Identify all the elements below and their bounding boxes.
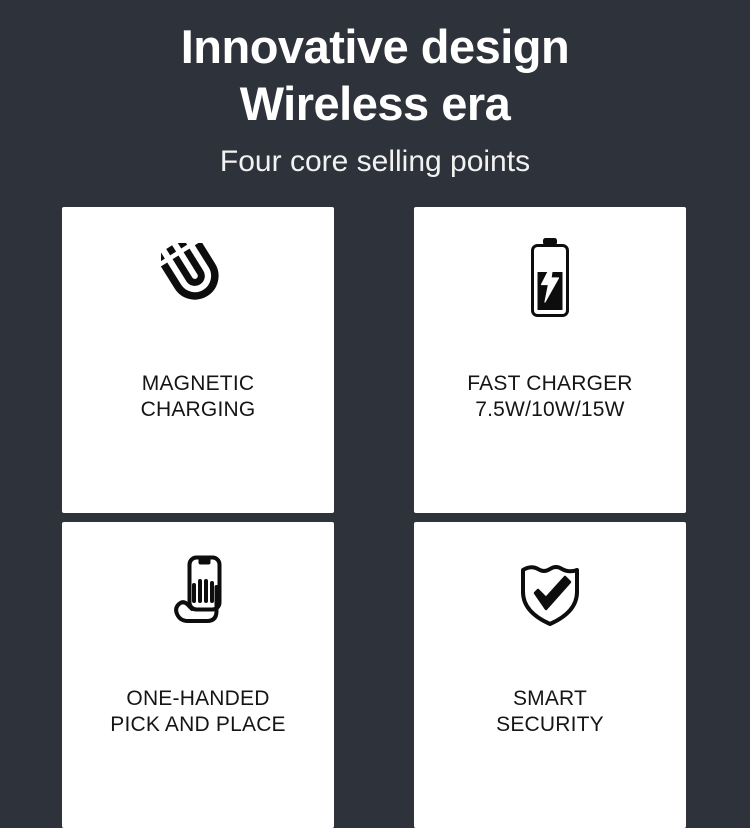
- feature-card-smart-security[interactable]: SMART SECURITY: [414, 522, 686, 828]
- feature-card-magnetic-charging[interactable]: MAGNETIC CHARGING: [62, 207, 334, 513]
- label-line-2: PICK AND PLACE: [62, 712, 334, 738]
- feature-card-label: ONE-HANDED PICK AND PLACE: [62, 686, 334, 738]
- label-line-1: ONE-HANDED: [126, 687, 269, 710]
- feature-card-label: FAST CHARGER 7.5W/10W/15W: [414, 371, 686, 423]
- promo-banner: Innovative design Wireless era Four core…: [0, 0, 750, 750]
- label-line-2: CHARGING: [62, 397, 334, 423]
- headline-line-2: Wireless era: [0, 75, 750, 132]
- feature-card-grid: MAGNETIC CHARGING FAST CHARGER: [62, 207, 686, 828]
- headline-line-1: Innovative design: [181, 20, 569, 73]
- label-line-1: MAGNETIC: [142, 372, 254, 395]
- feature-card-one-handed[interactable]: ONE-HANDED PICK AND PLACE: [62, 522, 334, 828]
- battery-charging-icon: [414, 233, 686, 323]
- shield-check-icon: [414, 548, 686, 638]
- label-line-1: SMART: [513, 687, 587, 710]
- feature-card-label: SMART SECURITY: [414, 686, 686, 738]
- page-subtitle: Four core selling points: [0, 132, 750, 180]
- hand-holding-phone-icon: [62, 548, 334, 638]
- label-line-2: SECURITY: [414, 712, 686, 738]
- magnet-icon: [62, 233, 334, 323]
- label-line-2: 7.5W/10W/15W: [414, 397, 686, 423]
- feature-card-fast-charger[interactable]: FAST CHARGER 7.5W/10W/15W: [414, 207, 686, 513]
- label-line-1: FAST CHARGER: [467, 372, 632, 395]
- page-title: Innovative design Wireless era: [0, 0, 750, 132]
- header: Innovative design Wireless era Four core…: [0, 0, 750, 180]
- feature-card-label: MAGNETIC CHARGING: [62, 371, 334, 423]
